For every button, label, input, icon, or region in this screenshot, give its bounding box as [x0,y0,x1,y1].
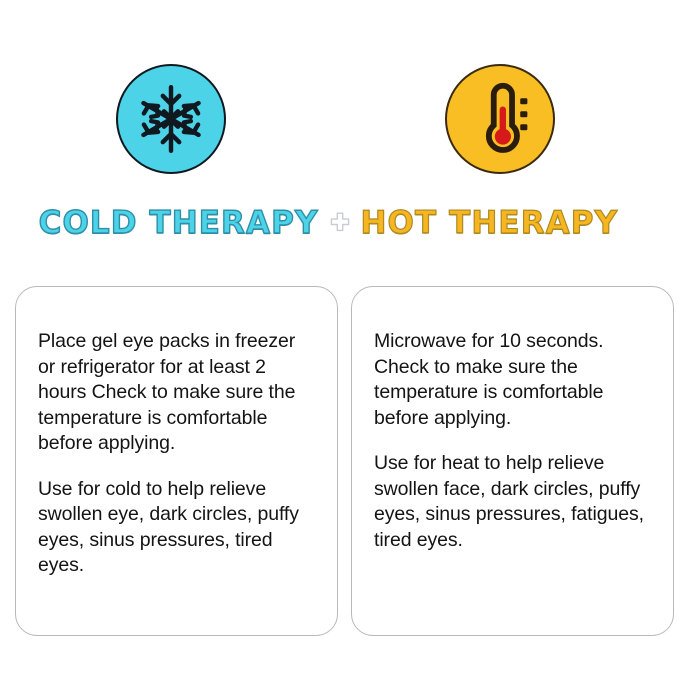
hot-therapy-card: Microwave for 10 seconds. Check to make … [351,286,674,636]
plus-separator [319,212,361,234]
thermometer-icon [447,66,553,172]
cold-instructions-paragraph: Place gel eye packs in freezer or refrig… [38,329,313,457]
hot-instructions-paragraph: Microwave for 10 seconds. Check to make … [374,329,649,431]
hot-therapy-title: HOT THERAPY [361,208,661,239]
hot-therapy-badge [445,64,555,174]
cold-therapy-title: COLD THERAPY [19,208,319,239]
instruction-cards: Place gel eye packs in freezer or refrig… [0,286,679,636]
hot-benefits-paragraph: Use for heat to help relieve swollen fac… [374,451,649,553]
therapy-instructions-infographic: COLD THERAPY HOT THERAPY Place gel eye p… [0,0,679,679]
cold-therapy-badge [116,64,226,174]
snowflake-icon [118,66,224,172]
plus-icon [329,212,351,234]
cold-benefits-paragraph: Use for cold to help relieve swollen eye… [38,477,313,579]
therapy-headings: COLD THERAPY HOT THERAPY [0,199,679,247]
icon-row [0,64,679,176]
cold-therapy-card: Place gel eye packs in freezer or refrig… [15,286,338,636]
